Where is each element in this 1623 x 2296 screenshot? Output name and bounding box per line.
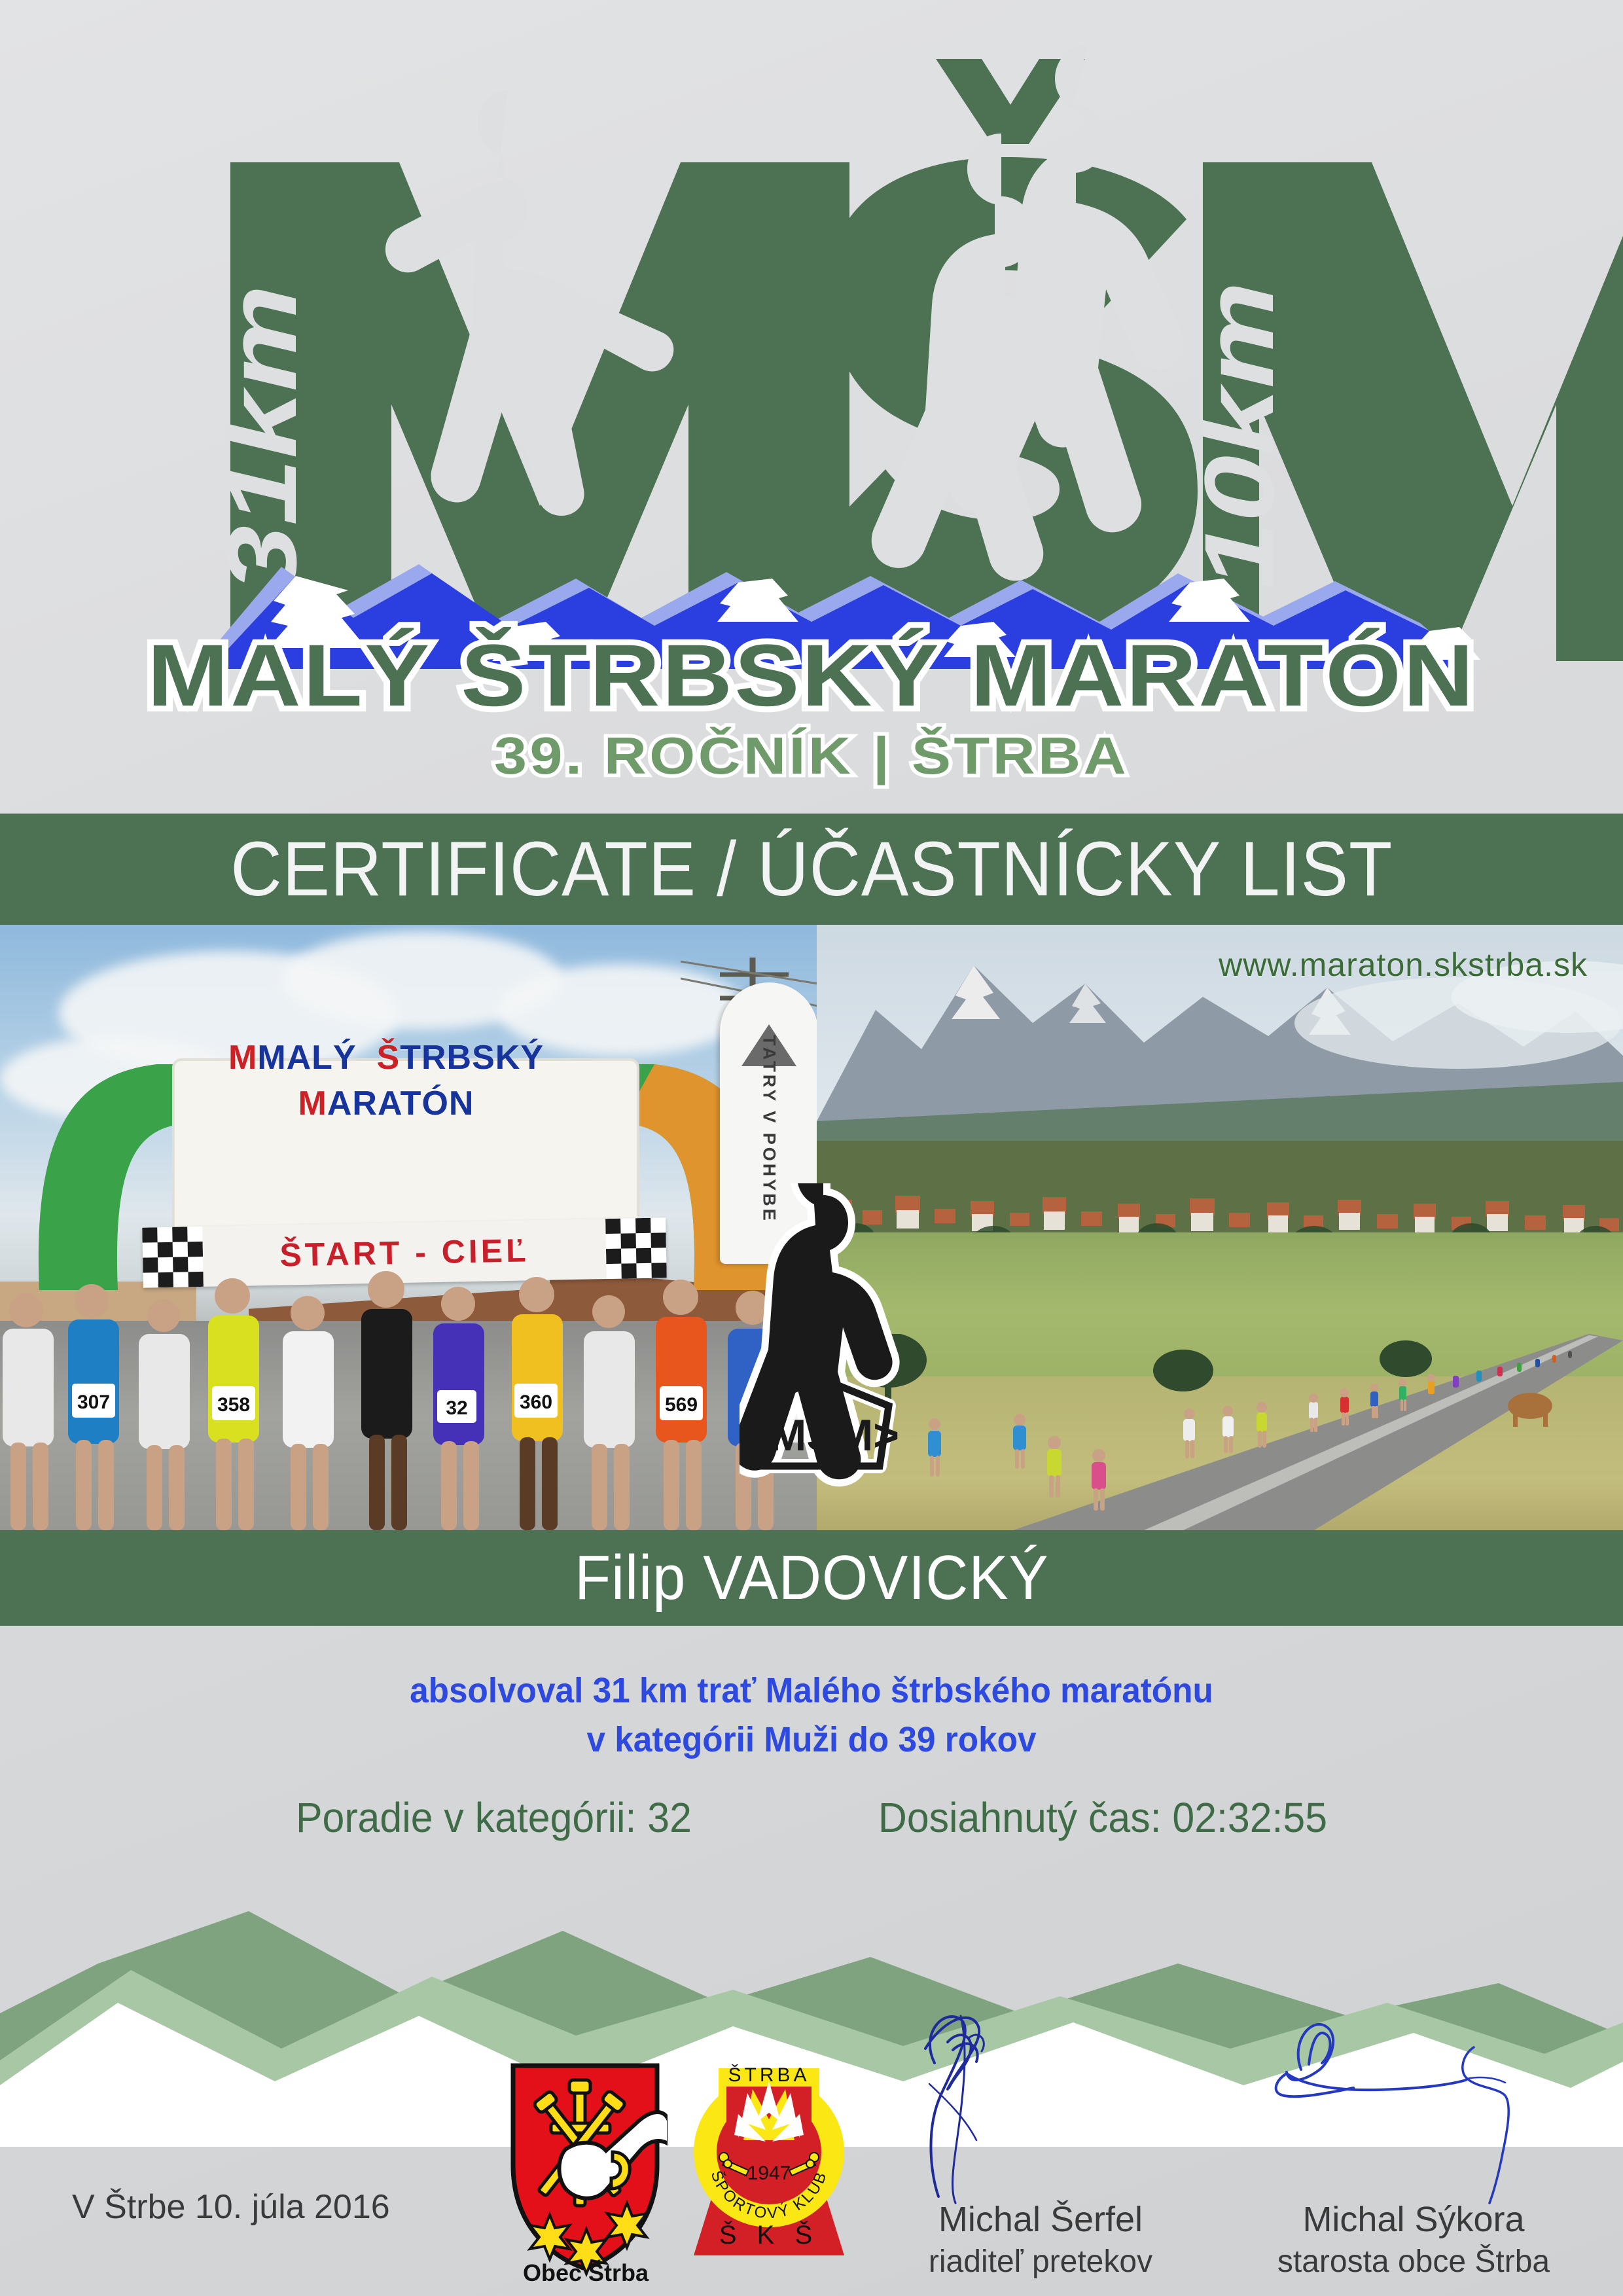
issue-date: V Štrbe 10. júla 2016 (72, 2187, 390, 2227)
msm-emblem-text: <MŠM> (743, 1410, 899, 1460)
svg-text:31km: 31km (207, 285, 317, 592)
achievement-line-1: absolvoval 31 km trať Malého štrbského m… (41, 1666, 1582, 1715)
photo-strip: MMALÝ ŠTRBSKÝMALÝ ŠTRBSKÝ MARATÓN ŠTART … (0, 925, 1623, 1530)
right-distance-label: 10km (1184, 281, 1294, 589)
signature-role: riaditeľ pretekov (857, 2244, 1224, 2280)
start-line-photo: MMALÝ ŠTRBSKÝMALÝ ŠTRBSKÝ MARATÓN ŠTART … (0, 925, 817, 1530)
runner-crowd: 307 358 32 569 360 (0, 1255, 817, 1530)
achievement-line-2: v kategórii Muži do 39 rokov (41, 1715, 1582, 1765)
logo-svg: 31km 10km MALÝ ŠTRBSKÝ MARATÓN 39. ROČNÍ… (0, 0, 1623, 795)
sks-top-text: ŠTRBA (728, 2064, 810, 2086)
svg-text:360: 360 (520, 1391, 552, 1413)
certificate-title-bar: CERTIFICATE / ÚČASTNÍCKY LIST (0, 814, 1623, 925)
participant-name: Filip VADOVICKÝ (575, 1542, 1048, 1614)
course-road-with-runners (817, 1334, 1623, 1530)
achievement-description: absolvoval 31 km trať Malého štrbského m… (41, 1666, 1582, 1764)
category-rank: Poradie v kategórii: 32 (296, 1793, 692, 1842)
finish-time: Dosiahnutý čas: 02:32:55 (878, 1793, 1327, 1842)
svg-text:32: 32 (446, 1397, 467, 1419)
msm-runner-emblem: <MŠM> (740, 1183, 903, 1491)
course-landscape-photo: www.maraton.skstrba.sk (817, 925, 1623, 1530)
left-distance-label: 31km (207, 285, 317, 592)
participant-name-bar: Filip VADOVICKÝ (0, 1530, 1623, 1626)
logo-title: MALÝ ŠTRBSKÝ MARATÓN (147, 627, 1476, 725)
achievement-section: absolvoval 31 km trať Malého štrbského m… (0, 1626, 1623, 1901)
sks-year: 1947 (747, 2162, 791, 2184)
arch-banner-text: MMALÝ ŠTRBSKÝMALÝ ŠTRBSKÝ MARATÓN (216, 1035, 556, 1126)
svg-text:307: 307 (77, 1391, 110, 1413)
crest-caption: Obec Štrba (497, 2259, 674, 2287)
svg-text:10km: 10km (1184, 281, 1294, 589)
sks-club-logo: ŠTRBA 1947 ŠPORTOVÝ KLUB Š K Š (687, 2047, 851, 2263)
svg-text:358: 358 (217, 1394, 250, 1416)
sks-banner-text: Š K Š (719, 2220, 819, 2250)
certificate-title: CERTIFICATE / ÚČASTNÍCKY LIST (230, 831, 1393, 908)
certificate-page: 31km 10km MALÝ ŠTRBSKÝ MARATÓN 39. ROČNÍ… (0, 0, 1623, 2296)
signature-name: Michal Šerfel (857, 2199, 1224, 2240)
logo-subtitle: 39. ROČNÍK | ŠTRBA (494, 726, 1129, 785)
signature-mark (857, 2003, 1224, 2219)
signature-name: Michal Sýkora (1230, 2199, 1597, 2240)
website-url[interactable]: www.maraton.skstrba.sk (1219, 946, 1588, 984)
signature-role: starosta obce Štrba (1230, 2244, 1597, 2280)
results-row: Poradie v kategórii: 32 Dosiahnutý čas: … (41, 1793, 1582, 1842)
svg-text:569: 569 (665, 1394, 698, 1416)
signature-mark (1230, 2003, 1597, 2219)
event-logo: 31km 10km MALÝ ŠTRBSKÝ MARATÓN 39. ROČNÍ… (0, 0, 1623, 795)
